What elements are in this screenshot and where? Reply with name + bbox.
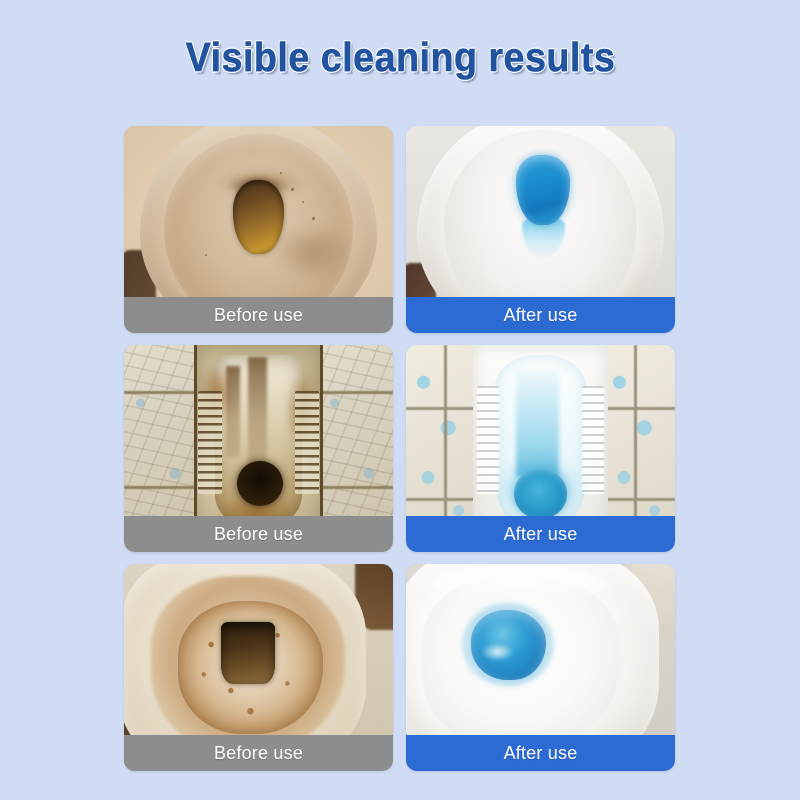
label-bar-after: After use [406,297,675,333]
page-header: Visible cleaning results [0,0,800,92]
comparison-card-row2-before[interactable]: Before use [124,345,393,552]
label-text: Before use [214,743,303,764]
comparison-card-row1-after[interactable]: After use [406,126,675,333]
comparison-grid: Before use After use [124,126,676,771]
label-text: Before use [214,305,303,326]
comparison-card-row3-before[interactable]: Before use [124,564,393,771]
label-bar-after: After use [406,735,675,771]
comparison-card-row2-after[interactable]: After use [406,345,675,552]
label-bar-before: Before use [124,297,393,333]
label-bar-after: After use [406,516,675,552]
label-bar-before: Before use [124,735,393,771]
comparison-card-row1-before[interactable]: Before use [124,126,393,333]
page-title: Visible cleaning results [185,34,615,81]
label-text: After use [504,743,578,764]
label-text: Before use [214,524,303,545]
comparison-card-row3-after[interactable]: After use [406,564,675,771]
label-text: After use [504,524,578,545]
label-text: After use [504,305,578,326]
label-bar-before: Before use [124,516,393,552]
